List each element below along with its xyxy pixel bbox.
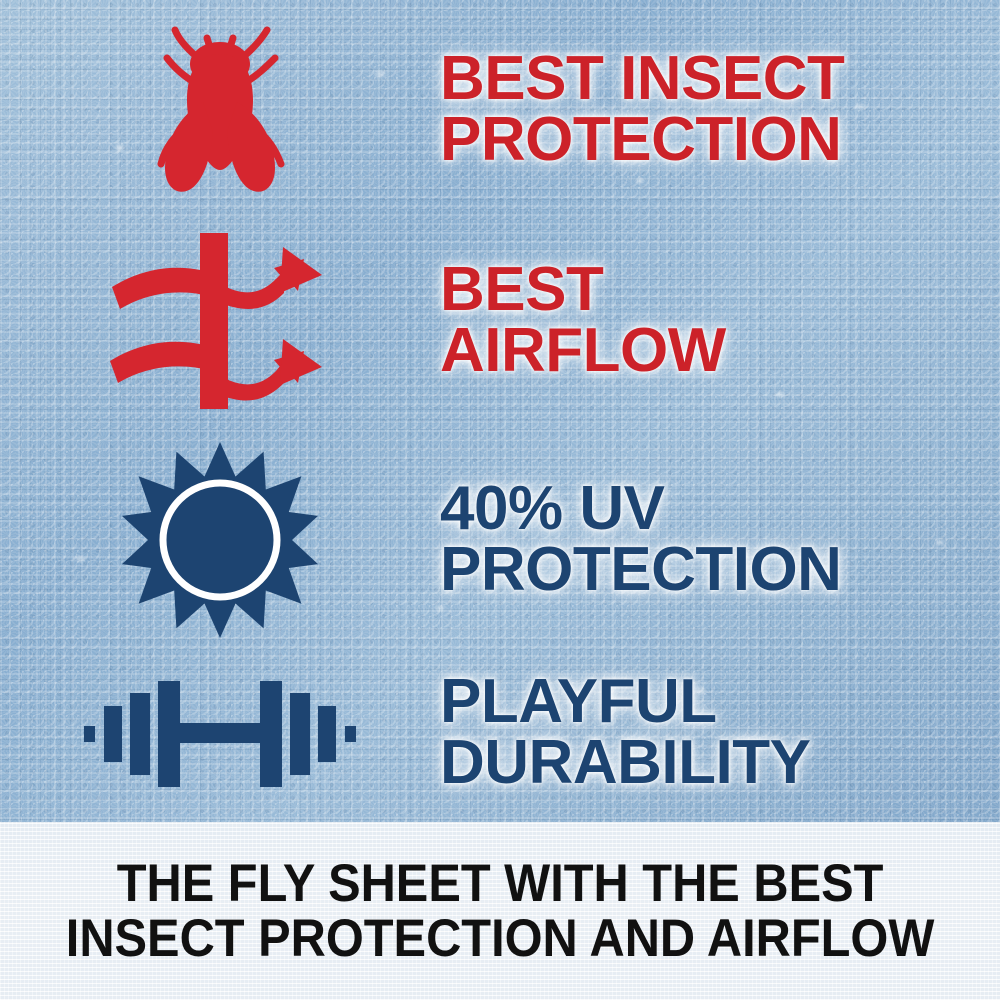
feature-row-uv-protection: 40% UV PROTECTION (0, 432, 1000, 647)
dumbbell-icon (82, 673, 358, 793)
feature-label-uv-protection: 40% UV PROTECTION (440, 479, 980, 601)
icon-cell-durability (0, 673, 440, 793)
caption-headline: THE FLY SHEET WITH THE BEST INSECT PROTE… (66, 856, 935, 966)
icon-cell-uv (0, 440, 440, 640)
text-cell-uv: 40% UV PROTECTION (440, 479, 1000, 601)
caption-band: THE FLY SHEET WITH THE BEST INSECT PROTE… (0, 822, 1000, 1000)
sunburst-icon (120, 440, 320, 640)
text-cell-insect: BEST INSECT PROTECTION (440, 49, 1000, 171)
fly-icon (145, 18, 295, 203)
icon-cell-airflow (0, 231, 440, 411)
product-feature-infographic: BEST INSECT PROTECTION (0, 0, 1000, 1000)
icon-cell-insect (0, 18, 440, 203)
feature-row-durability: PLAYFUL DURABILITY (0, 650, 1000, 815)
airflow-arrows-icon (108, 231, 333, 411)
feature-label-durability: PLAYFUL DURABILITY (440, 672, 980, 794)
feature-label-insect-protection: BEST INSECT PROTECTION (440, 49, 980, 171)
feature-row-insect-protection: BEST INSECT PROTECTION (0, 10, 1000, 210)
feature-label-airflow: BEST AIRFLOW (440, 260, 980, 382)
text-cell-durability: PLAYFUL DURABILITY (440, 672, 1000, 794)
feature-row-airflow: BEST AIRFLOW (0, 218, 1000, 423)
text-cell-airflow: BEST AIRFLOW (440, 260, 1000, 382)
